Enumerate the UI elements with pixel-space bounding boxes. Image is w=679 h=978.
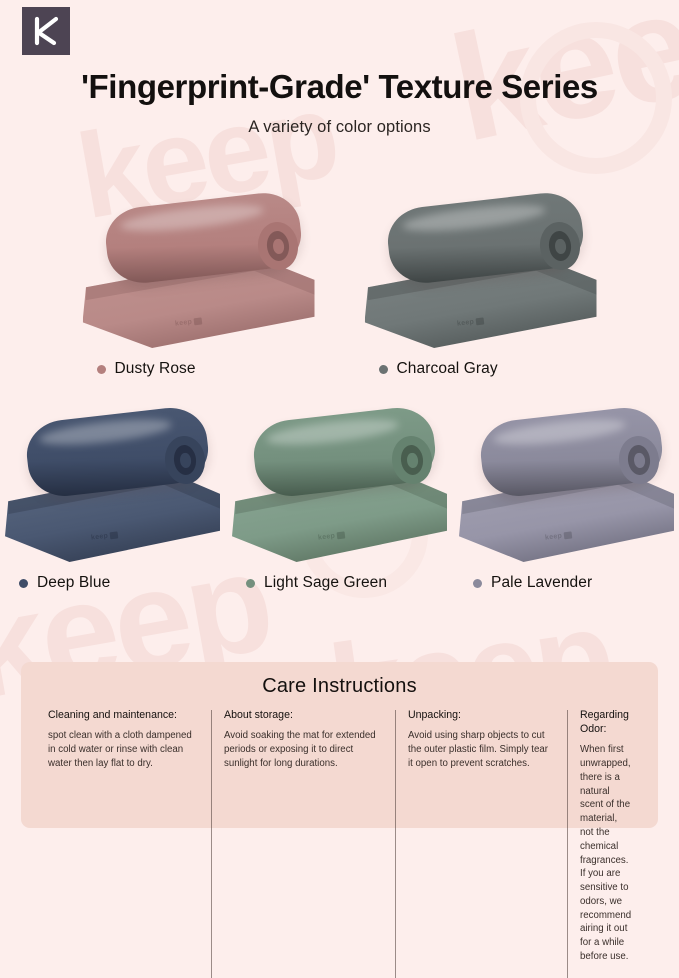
product-name: Deep Blue bbox=[37, 574, 110, 592]
product-row-2: keepDeep BluekeepLight Sage GreenkeepPal… bbox=[0, 410, 679, 592]
product-label: Dusty Rose bbox=[83, 360, 315, 378]
care-column-body: Avoid using sharp objects to cut the out… bbox=[408, 729, 554, 770]
product-name: Charcoal Gray bbox=[397, 360, 498, 378]
product-label: Light Sage Green bbox=[232, 574, 447, 592]
mat-image[interactable]: keep bbox=[459, 410, 674, 570]
mat-image[interactable]: keep bbox=[365, 196, 597, 356]
color-swatch-dot bbox=[246, 579, 255, 588]
care-column-body: When first unwrapped, there is a natural… bbox=[580, 743, 631, 963]
color-swatch-dot bbox=[473, 579, 482, 588]
product-label: Charcoal Gray bbox=[365, 360, 597, 378]
product-name: Pale Lavender bbox=[491, 574, 592, 592]
color-swatch-dot bbox=[97, 365, 106, 374]
mat-image[interactable]: keep bbox=[83, 196, 315, 356]
color-swatch-dot bbox=[19, 579, 28, 588]
product-card[interactable]: keepLight Sage Green bbox=[232, 410, 447, 592]
care-column-heading: Cleaning and maintenance: bbox=[48, 708, 198, 722]
product-label: Pale Lavender bbox=[459, 574, 674, 592]
product-card[interactable]: keepDeep Blue bbox=[5, 410, 220, 592]
care-column: Cleaning and maintenance:spot clean with… bbox=[35, 708, 211, 964]
color-swatch-dot bbox=[379, 365, 388, 374]
product-label: Deep Blue bbox=[5, 574, 220, 592]
care-column-heading: Regarding Odor: bbox=[580, 708, 631, 736]
product-card[interactable]: keepCharcoal Gray bbox=[365, 196, 597, 378]
care-column: Regarding Odor:When first unwrapped, the… bbox=[567, 708, 644, 964]
care-instructions-panel: Care Instructions Cleaning and maintenan… bbox=[21, 662, 658, 828]
mat-image[interactable]: keep bbox=[232, 410, 447, 570]
product-name: Dusty Rose bbox=[115, 360, 196, 378]
product-card[interactable]: keepDusty Rose bbox=[83, 196, 315, 378]
care-column-heading: About storage: bbox=[224, 708, 382, 722]
page-title: 'Fingerprint-Grade' Texture Series bbox=[0, 68, 679, 106]
product-card[interactable]: keepPale Lavender bbox=[459, 410, 674, 592]
care-title: Care Instructions bbox=[21, 662, 658, 698]
care-column-body: spot clean with a cloth dampened in cold… bbox=[48, 729, 198, 770]
care-column-body: Avoid soaking the mat for extended perio… bbox=[224, 729, 382, 770]
product-name: Light Sage Green bbox=[264, 574, 387, 592]
keep-k-logo-icon bbox=[22, 7, 70, 55]
care-columns: Cleaning and maintenance:spot clean with… bbox=[21, 698, 658, 964]
product-row-1: keepDusty RosekeepCharcoal Gray bbox=[0, 196, 679, 378]
care-column-heading: Unpacking: bbox=[408, 708, 554, 722]
care-column: About storage:Avoid soaking the mat for … bbox=[211, 708, 395, 964]
page-subtitle: A variety of color options bbox=[0, 118, 679, 137]
care-column: Unpacking:Avoid using sharp objects to c… bbox=[395, 708, 567, 964]
mat-image[interactable]: keep bbox=[5, 410, 220, 570]
